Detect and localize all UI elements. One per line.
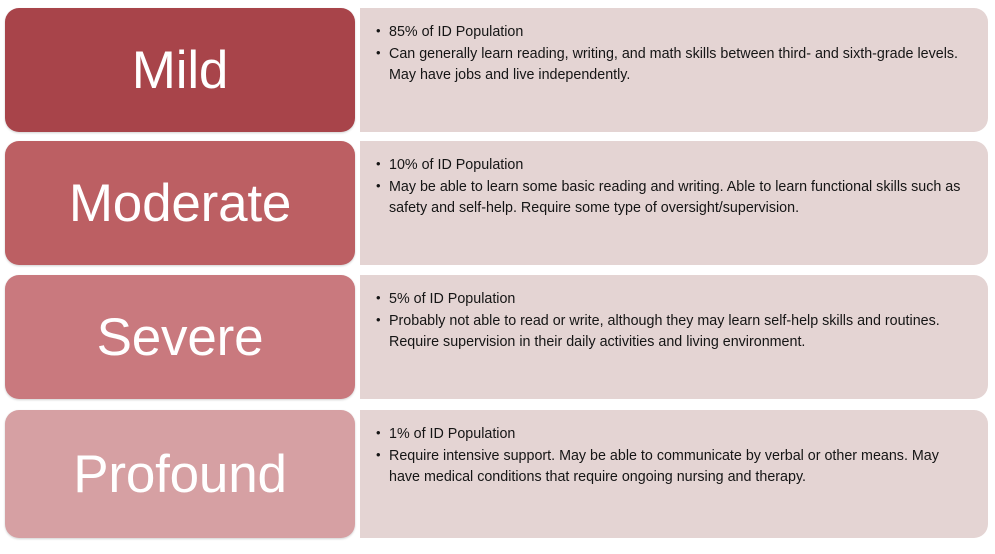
diagram-row-severe: Severe 5% of ID Population Probably not … [0,275,995,399]
diagram-row-moderate: Moderate 10% of ID Population May be abl… [0,141,995,265]
bullet-list-profound: 1% of ID Population Require intensive su… [376,424,970,489]
list-item: Can generally learn reading, writing, an… [376,44,970,85]
level-card-profound[interactable]: Profound [5,410,355,538]
severity-levels-diagram: Mild 85% of ID Population Can generally … [0,0,995,554]
list-item: May be able to learn some basic reading … [376,177,970,218]
list-item: 5% of ID Population [376,289,970,309]
bullet-list-mild: 85% of ID Population Can generally learn… [376,22,970,87]
level-label-profound: Profound [73,448,287,501]
list-item: 1% of ID Population [376,424,970,444]
list-item: 85% of ID Population [376,22,970,42]
detail-panel-severe: 5% of ID Population Probably not able to… [360,275,988,399]
bullet-list-severe: 5% of ID Population Probably not able to… [376,289,970,354]
level-card-severe[interactable]: Severe [5,275,355,399]
bullet-list-moderate: 10% of ID Population May be able to lear… [376,155,970,220]
list-item: 10% of ID Population [376,155,970,175]
diagram-row-mild: Mild 85% of ID Population Can generally … [0,8,995,132]
list-item: Probably not able to read or write, alth… [376,311,970,352]
level-card-moderate[interactable]: Moderate [5,141,355,265]
list-item: Require intensive support. May be able t… [376,446,970,487]
detail-panel-moderate: 10% of ID Population May be able to lear… [360,141,988,265]
detail-panel-profound: 1% of ID Population Require intensive su… [360,410,988,538]
level-card-mild[interactable]: Mild [5,8,355,132]
level-label-moderate: Moderate [69,177,291,230]
detail-panel-mild: 85% of ID Population Can generally learn… [360,8,988,132]
diagram-row-profound: Profound 1% of ID Population Require int… [0,410,995,538]
level-label-severe: Severe [97,311,264,364]
level-label-mild: Mild [132,44,228,97]
